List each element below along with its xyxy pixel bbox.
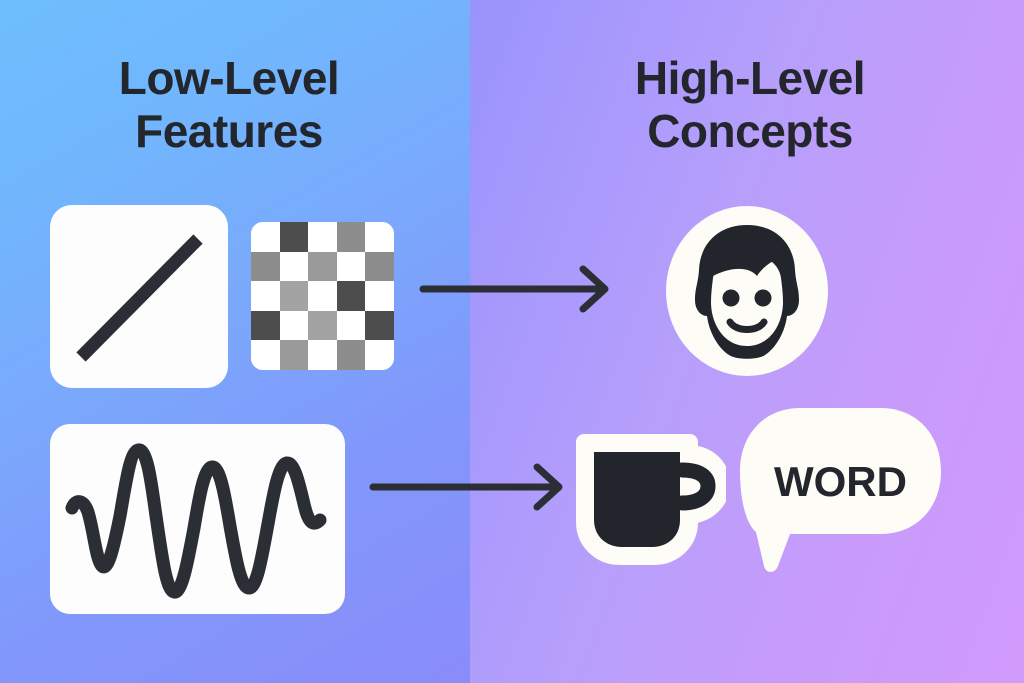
texture-cell <box>337 281 366 311</box>
arrow-right-icon <box>370 460 574 514</box>
arrow-bottom <box>370 460 574 514</box>
arrow-top <box>420 262 620 316</box>
texture-cell <box>280 340 309 370</box>
texture-cell <box>280 252 309 282</box>
texture-cell <box>337 252 366 282</box>
texture-card <box>251 222 394 370</box>
heading-low-level-features: Low-Level Features <box>24 52 434 159</box>
waveform-icon <box>50 424 345 614</box>
texture-cell <box>280 311 309 341</box>
texture-cell <box>280 222 309 252</box>
face-concept <box>666 206 828 376</box>
speech-bubble-icon <box>738 406 943 578</box>
texture-cell <box>308 222 337 252</box>
texture-cell <box>308 311 337 341</box>
texture-cell <box>365 281 394 311</box>
texture-cell <box>337 311 366 341</box>
texture-cell <box>251 311 280 341</box>
edge-card <box>50 205 228 388</box>
texture-cell <box>308 252 337 282</box>
texture-cell <box>251 222 280 252</box>
texture-cell <box>365 340 394 370</box>
waveform-card <box>50 424 345 614</box>
heading-high-level-concepts: High-Level Concepts <box>545 52 955 159</box>
texture-cell <box>337 222 366 252</box>
mug-icon <box>576 430 726 565</box>
mug-concept <box>576 430 726 565</box>
texture-cell <box>308 340 337 370</box>
texture-cell <box>365 252 394 282</box>
texture-cell <box>365 222 394 252</box>
face-icon <box>666 206 828 376</box>
texture-cell <box>251 281 280 311</box>
texture-cell <box>365 311 394 341</box>
texture-cell <box>337 340 366 370</box>
word-concept: WORD <box>738 406 943 578</box>
texture-cell <box>251 252 280 282</box>
texture-cell <box>251 340 280 370</box>
infographic-canvas: Low-Level Features High-Level Concepts <box>0 0 1024 683</box>
texture-cell <box>308 281 337 311</box>
diagonal-edge-icon <box>50 205 228 388</box>
texture-cell <box>280 281 309 311</box>
arrow-right-icon <box>420 262 620 316</box>
